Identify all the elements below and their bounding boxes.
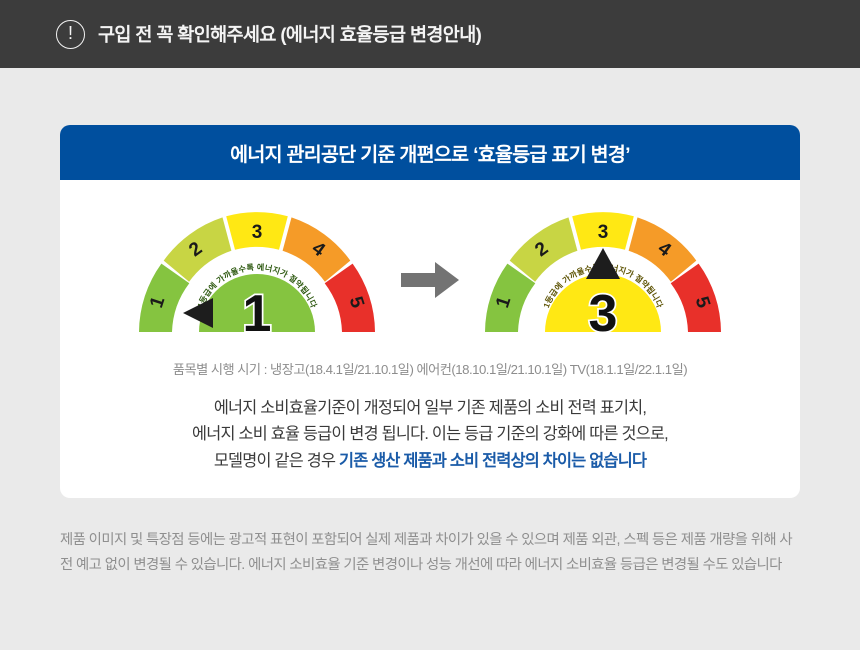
body-line-2: 에너지 소비 효율 등급이 변경 됩니다. 이는 등급 기준의 강화에 따른 것… [60, 421, 800, 447]
gauge-comparison: 1 2 3 4 5 1등급에 가까울수록 에너지가 절약됩니다 1 [60, 180, 800, 361]
exclamation-circle-icon: ! [56, 20, 85, 49]
exclamation-glyph: ! [68, 24, 73, 42]
notice-card: 에너지 관리공단 기준 개편으로 ‘효율등급 표기 변경’ 1 [60, 125, 800, 498]
gauge-before-grade-number: 1 [243, 285, 272, 341]
body-line-3: 모델명이 같은 경우 기존 생산 제품과 소비 전력상의 차이는 없습니다 [60, 448, 800, 474]
gauge-after-grade-number: 3 [589, 285, 618, 341]
card-banner: 에너지 관리공단 기준 개편으로 ‘효율등급 표기 변경’ [60, 125, 800, 180]
body-copy: 에너지 소비효율기준이 개정되어 일부 기존 제품의 소비 전력 표기치, 에너… [60, 395, 800, 474]
body-line-3-prefix: 모델명이 같은 경우 [214, 452, 339, 470]
body-line-1: 에너지 소비효율기준이 개정되어 일부 기존 제품의 소비 전력 표기치, [60, 395, 800, 421]
svg-text:3: 3 [252, 222, 263, 243]
gauge-after: 1 2 3 4 5 1등급에 가까울수록 에너지가 절약됩니다 3 [483, 206, 723, 341]
page-title: 구입 전 꼭 확인해주세요 (에너지 효율등급 변경안내) [98, 21, 481, 47]
right-arrow-icon [399, 260, 461, 300]
page-header: ! 구입 전 꼭 확인해주세요 (에너지 효율등급 변경안내) [0, 0, 860, 68]
body-line-3-emphasis: 기존 생산 제품과 소비 전력상의 차이는 없습니다 [339, 452, 646, 470]
gauge-after-pointer [586, 248, 620, 279]
svg-text:3: 3 [598, 222, 609, 243]
card-banner-title: 에너지 관리공단 기준 개편으로 ‘효율등급 표기 변경’ [230, 138, 630, 167]
gauge-before: 1 2 3 4 5 1등급에 가까울수록 에너지가 절약됩니다 1 [137, 206, 377, 341]
schedule-note: 품목별 시행 시기 : 냉장고(18.4.1일/21.10.1일) 에어컨(18… [60, 359, 800, 378]
disclaimer-text: 제품 이미지 및 특장점 등에는 광고적 표현이 포함되어 실제 제품과 차이가… [60, 528, 800, 578]
